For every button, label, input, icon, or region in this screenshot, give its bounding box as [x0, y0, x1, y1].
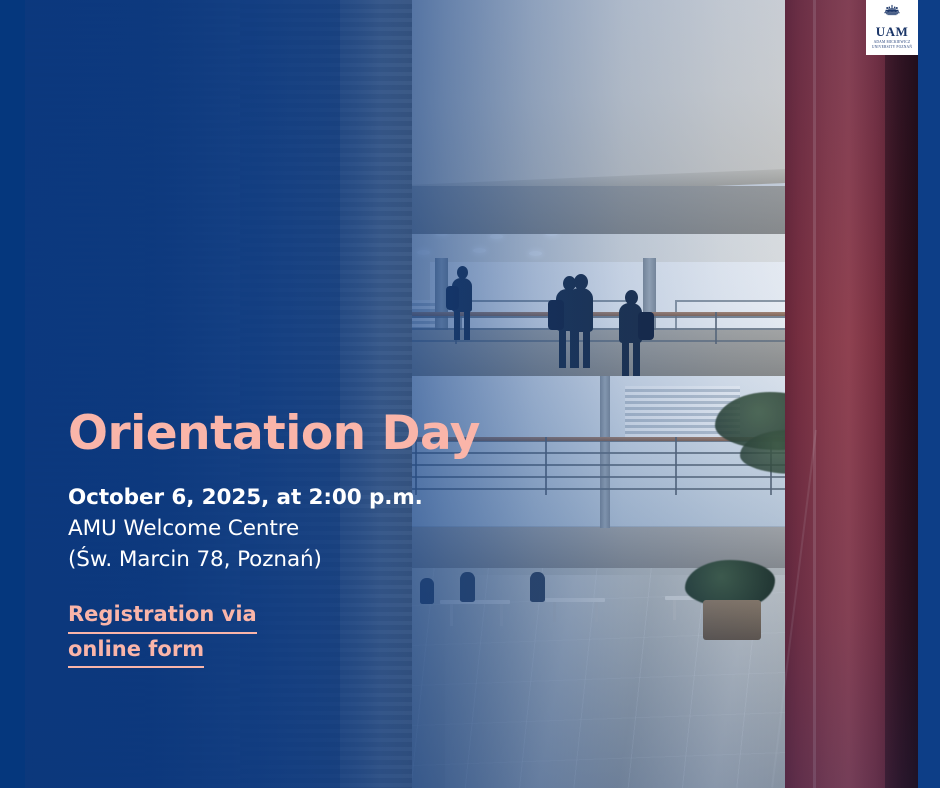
- registration-link[interactable]: Registration via online form: [68, 599, 257, 668]
- logo-subtitle: Adam Mickiewicz University Poznań: [868, 40, 916, 50]
- university-crest-icon: [879, 4, 905, 24]
- person-leg: [583, 331, 590, 368]
- table-leg: [595, 602, 598, 622]
- venue-address: (Św. Marcin 78, Poznań): [68, 544, 488, 575]
- atrium-photo: [25, 0, 918, 788]
- event-datetime: October 6, 2025, at 2:00 p.m.: [68, 482, 488, 513]
- maroon-wall-seam: [813, 0, 816, 788]
- person-leg: [454, 310, 460, 340]
- person-leg: [572, 331, 579, 368]
- railing-post: [545, 437, 547, 495]
- brick-pier-column: [340, 0, 412, 788]
- brick-pier-left-inner: [145, 0, 240, 788]
- brick-pier-mid: [240, 0, 340, 788]
- table-leg: [500, 604, 503, 626]
- registration-link-line2: online form: [68, 634, 204, 669]
- railing-post: [675, 437, 677, 495]
- downlight-icon: [529, 251, 542, 256]
- shoulder-bag-icon: [446, 286, 459, 310]
- page-title: Orientation Day: [68, 410, 488, 458]
- downlight-icon: [473, 248, 486, 253]
- person-leg: [633, 342, 640, 376]
- poster-text-block: Orientation Day October 6, 2025, at 2:00…: [68, 410, 488, 668]
- backpack-icon: [638, 312, 654, 340]
- planter-box: [703, 600, 761, 640]
- person-leg: [559, 330, 566, 368]
- backpack-icon: [548, 300, 564, 330]
- left-brand-bar: [0, 0, 25, 788]
- amu-logo: UAM Adam Mickiewicz University Poznań: [866, 0, 918, 55]
- orientation-day-poster: UAM Adam Mickiewicz University Poznań Or…: [0, 0, 940, 788]
- person-leg: [464, 310, 470, 340]
- logo-acronym: UAM: [876, 25, 909, 38]
- right-brand-bar: [918, 0, 940, 788]
- venue-name: AMU Welcome Centre: [68, 513, 488, 544]
- railing-post: [715, 312, 717, 344]
- person-standing-b: [568, 288, 593, 332]
- downlight-icon: [417, 250, 430, 255]
- maroon-wall-shadow: [885, 0, 918, 788]
- person-leg: [622, 342, 629, 376]
- downlight-icon: [490, 234, 503, 239]
- registration-link-line1: Registration via: [68, 599, 257, 634]
- table-leg: [673, 600, 676, 620]
- table-leg: [553, 602, 556, 622]
- person-seated: [530, 572, 545, 602]
- brick-pier-left: [25, 0, 145, 788]
